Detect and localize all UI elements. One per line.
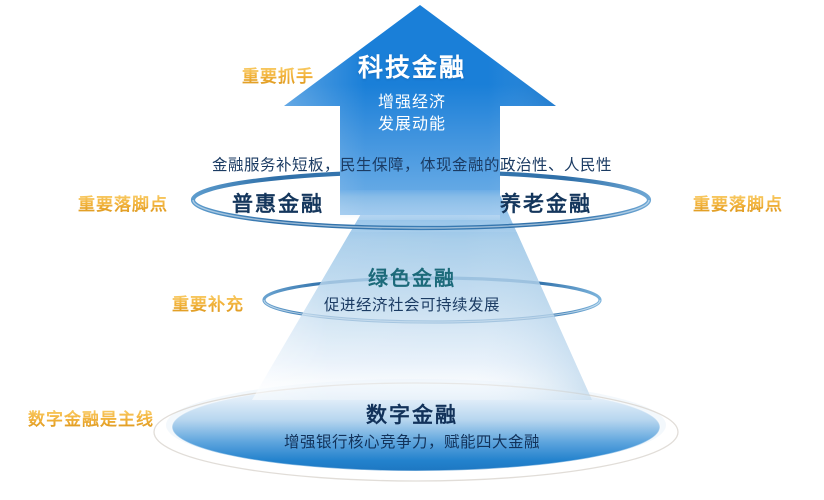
label-tier-top-left: 重要落脚点 <box>78 190 168 215</box>
tier-bottom-subtitle: 增强银行核心竞争力，赋能四大金融 <box>0 430 824 452</box>
tier-top-caption: 金融服务补短板，民生保障，体现金融的政治性、人民性 <box>0 153 824 175</box>
tier-top-left-item: 普惠金融 <box>232 188 324 218</box>
arrow-title: 科技金融 <box>0 48 824 84</box>
arrow-subtitle-line-1: 增强经济 <box>0 88 824 112</box>
diagram-canvas: 科技金融 增强经济 发展动能 重要抓手 金融服务补短板，民生保障，体现金融的政治… <box>0 0 824 500</box>
label-arrow-side: 重要抓手 <box>242 62 314 87</box>
tier-middle-subtitle: 促进经济社会可持续发展 <box>0 293 824 315</box>
tier-top-right-item: 养老金融 <box>500 188 592 218</box>
arrow-subtitle-line-2: 发展动能 <box>0 110 824 134</box>
tier-middle-title: 绿色金融 <box>0 262 824 291</box>
label-tier-top-right: 重要落脚点 <box>693 190 783 215</box>
label-tier-middle: 重要补充 <box>172 290 244 315</box>
label-tier-bottom: 数字金融是主线 <box>28 405 154 430</box>
